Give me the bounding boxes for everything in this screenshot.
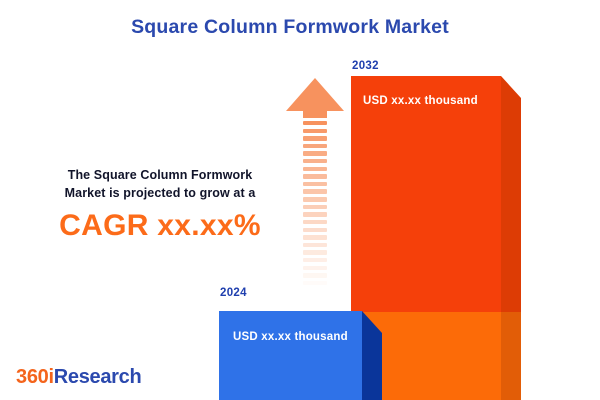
arrow-segment: [303, 288, 327, 292]
arrow-segment: [303, 189, 327, 193]
bar-2032-side-lower: [501, 312, 521, 400]
arrow-segment: [303, 197, 327, 201]
year-label-2032: 2032: [352, 60, 379, 72]
arrow-segment: [303, 258, 327, 262]
arrow-segment: [303, 121, 327, 125]
arrow-segment: [303, 281, 327, 285]
cagr-callout: The Square Column Formwork Market is pro…: [20, 166, 300, 243]
bar-2032-side-upper: [501, 76, 521, 312]
arrow-segment: [303, 151, 327, 155]
arrow-neck: [303, 109, 327, 118]
arrow-segment: [303, 129, 327, 133]
arrow-segment: [303, 273, 327, 277]
bar-2024-face: [219, 311, 362, 400]
cagr-lead-line-2: Market is projected to grow at a: [20, 184, 300, 202]
arrow-segment: [303, 182, 327, 186]
bar-2024-value-label: USD xx.xx thousand: [233, 331, 348, 343]
cagr-lead-line-1: The Square Column Formwork: [20, 166, 300, 184]
brand-logo[interactable]: 360iResearch: [16, 366, 141, 389]
arrow-segment: [303, 144, 327, 148]
arrow-segment: [303, 212, 327, 216]
cagr-lead-text: The Square Column Formwork Market is pro…: [20, 166, 300, 202]
arrow-segment: [303, 220, 327, 224]
cagr-value: CAGR xx.xx%: [20, 209, 300, 243]
arrow-segment: [303, 235, 327, 239]
logo-text-360: 360: [16, 366, 48, 388]
bar-2024[interactable]: USD xx.xx thousand: [219, 311, 362, 400]
bar-2032-face-upper: [351, 76, 501, 312]
arrow-segment: [303, 266, 327, 270]
page-title: Square Column Formwork Market: [0, 16, 580, 39]
arrow-segment: [303, 243, 327, 247]
arrow-segment: [303, 174, 327, 178]
arrow-segment: [303, 136, 327, 140]
arrow-segment: [303, 205, 327, 209]
infographic-canvas: Square Column Formwork Market 2032 USD x…: [0, 0, 600, 400]
arrow-segment: [303, 250, 327, 254]
arrow-segment: [303, 159, 327, 163]
arrow-shaft: [303, 121, 327, 293]
bar-2032-value-label: USD xx.xx thousand: [363, 95, 478, 107]
arrow-segment: [303, 167, 327, 171]
year-label-2024: 2024: [220, 287, 247, 299]
logo-text-research: Research: [54, 366, 142, 388]
arrow-segment: [303, 228, 327, 232]
arrow-head-icon: [286, 78, 344, 111]
